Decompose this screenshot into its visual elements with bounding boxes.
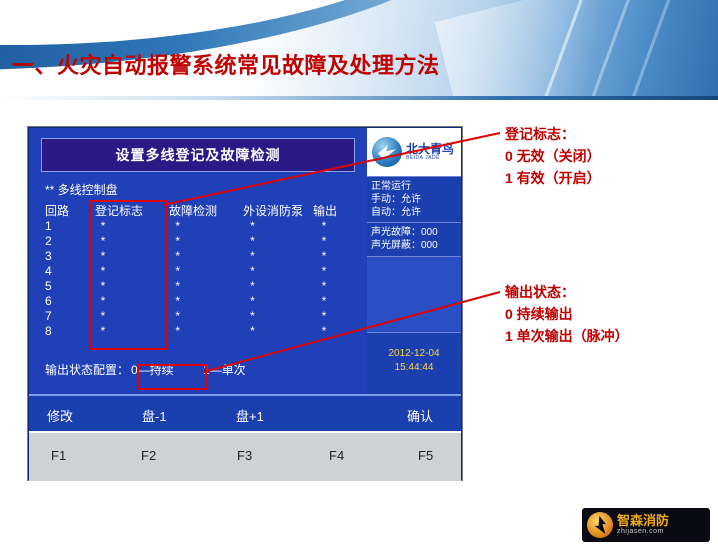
cell-fault: * xyxy=(159,309,234,324)
empty-status-area xyxy=(367,256,461,333)
datetime-box: 2012-12-04 15:44:44 xyxy=(367,332,461,394)
function-label-bar: 修改 盘-1 盘+1 确认 xyxy=(29,394,461,433)
status-line-manual: 手动：允许 xyxy=(371,193,457,206)
annotation-output: 输出状态： 0 持续输出 1 单次输出（脉冲） xyxy=(505,281,629,347)
annotation-output-line1: 0 持续输出 xyxy=(505,303,629,325)
page-title: 一、火灾自动报警系统常见故障及处理方法 xyxy=(12,48,440,80)
annotation-register: 登记标志： 0 无效（关闭） 1 有效（开启） xyxy=(505,123,601,189)
column-header-fault: 故障检测 xyxy=(169,202,243,219)
cell-pump: * xyxy=(234,264,306,279)
annotation-register-line2: 1 有效（开启） xyxy=(505,167,601,189)
column-header-loop: 回路 xyxy=(45,202,95,219)
date-text: 2012-12-04 xyxy=(367,347,461,361)
brand-logo: 北大青鸟 BEIDA JADE xyxy=(367,128,461,176)
cell-output: * xyxy=(306,279,355,294)
footer-brand-en: zhijasen.com xyxy=(617,528,669,536)
alarm-fault-count: 声光故障：000 xyxy=(371,226,457,239)
alarm-counters: 声光故障：000 声光屏蔽：000 xyxy=(367,222,461,256)
status-box: 正常运行 手动：允许 自动：允许 xyxy=(367,176,461,222)
cell-pump: * xyxy=(234,294,306,309)
alarm-shield-count: 声光屏蔽：000 xyxy=(371,239,457,252)
cell-pump: * xyxy=(234,279,306,294)
cell-loop: 4 xyxy=(45,264,85,279)
annotation-output-line2: 1 单次输出（脉冲） xyxy=(505,325,629,347)
cell-loop: 1 xyxy=(45,219,85,234)
flame-logo-icon xyxy=(587,512,613,538)
column-header-output: 输出 xyxy=(313,202,355,219)
cell-fault: * xyxy=(159,279,234,294)
cell-output: * xyxy=(306,249,355,264)
function-key-bar: F1 F2 F3 F4 F5 xyxy=(29,431,461,481)
key-f4[interactable]: F4 xyxy=(329,448,344,463)
cell-loop: 5 xyxy=(45,279,85,294)
cell-pump: * xyxy=(234,234,306,249)
cell-fault: * xyxy=(159,324,234,339)
brand-name-en: BEIDA JADE xyxy=(406,156,454,161)
key-f3[interactable]: F3 xyxy=(237,448,252,463)
annotation-register-line1: 0 无效（关闭） xyxy=(505,145,601,167)
footer-brand-cn: 智森消防 xyxy=(617,514,669,528)
cell-output: * xyxy=(306,234,355,249)
output-config-label: 输出状态配置： xyxy=(45,361,131,378)
key-f5[interactable]: F5 xyxy=(418,448,433,463)
panel-header-title: 设置多线登记及故障检测 xyxy=(116,145,281,165)
cell-loop: 7 xyxy=(45,309,85,324)
cell-output: * xyxy=(306,294,355,309)
cell-output: * xyxy=(306,324,355,339)
cell-fault: * xyxy=(159,294,234,309)
fn-label-confirm[interactable]: 确认 xyxy=(407,406,433,425)
cell-fault: * xyxy=(159,234,234,249)
status-line-running: 正常运行 xyxy=(371,180,457,193)
brand-name-cn: 北大青鸟 xyxy=(406,143,454,156)
cell-output: * xyxy=(306,219,355,234)
annotation-register-title: 登记标志： xyxy=(505,123,601,145)
fn-label-modify[interactable]: 修改 xyxy=(47,406,73,425)
cell-loop: 3 xyxy=(45,249,85,264)
highlight-register-column xyxy=(90,200,167,350)
annotation-output-title: 输出状态： xyxy=(505,281,629,303)
panel-screen: 设置多线登记及故障检测 ** 多线控制盘 回路 登记标志 故障检测 外设消防泵 … xyxy=(29,128,367,394)
output-config-option-single: 1—单次 xyxy=(203,363,246,377)
cell-pump: * xyxy=(234,219,306,234)
cell-pump: * xyxy=(234,249,306,264)
cell-pump: * xyxy=(234,309,306,324)
panel-subtitle: ** 多线控制盘 xyxy=(45,181,118,198)
footer-logo: 智森消防 zhijasen.com xyxy=(582,508,710,542)
cell-fault: * xyxy=(159,219,234,234)
status-line-auto: 自动：允许 xyxy=(371,206,457,219)
cell-loop: 6 xyxy=(45,294,85,309)
highlight-output-config xyxy=(137,364,207,390)
cell-fault: * xyxy=(159,249,234,264)
cell-output: * xyxy=(306,309,355,324)
fn-label-prev[interactable]: 盘-1 xyxy=(142,406,167,425)
fn-label-next[interactable]: 盘+1 xyxy=(236,406,264,425)
banner-underline xyxy=(0,96,718,100)
key-f2[interactable]: F2 xyxy=(141,448,156,463)
cell-loop: 8 xyxy=(45,324,85,339)
key-f1[interactable]: F1 xyxy=(51,448,66,463)
cell-loop: 2 xyxy=(45,234,85,249)
cell-output: * xyxy=(306,264,355,279)
panel-header-bar: 设置多线登记及故障检测 xyxy=(41,138,355,172)
column-header-pump: 外设消防泵 xyxy=(243,202,313,219)
cell-pump: * xyxy=(234,324,306,339)
bird-logo-icon xyxy=(370,133,404,171)
clock-text: 15:44:44 xyxy=(367,361,461,375)
cell-fault: * xyxy=(159,264,234,279)
banner-line-accents xyxy=(418,0,718,100)
